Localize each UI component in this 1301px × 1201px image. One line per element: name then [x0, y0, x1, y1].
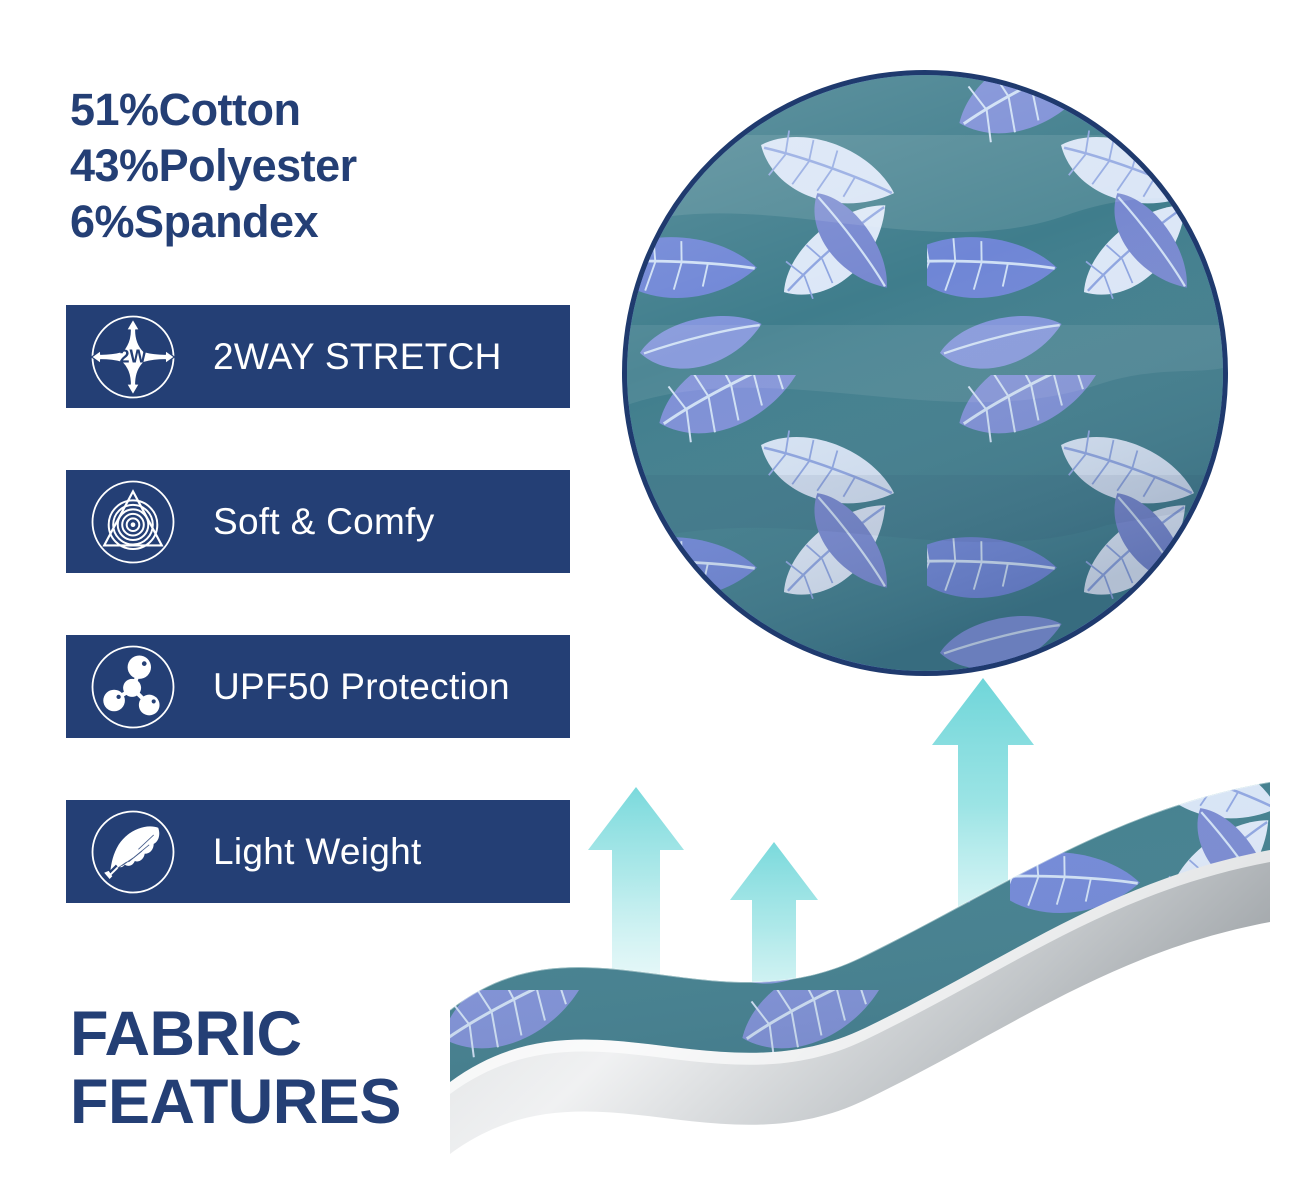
- molecule-icon: [88, 642, 178, 732]
- two-way-stretch-icon: 2W: [88, 312, 178, 402]
- page-title: FABRIC FEATURES: [70, 1000, 401, 1136]
- page-title-line-2: FEATURES: [70, 1068, 401, 1136]
- fabric-composition: 51%Cotton 43%Polyester 6%Spandex: [70, 82, 357, 249]
- two-way-stretch-icon-text: 2W: [120, 346, 147, 366]
- fabric-swatch-circle: [622, 70, 1228, 676]
- fabric-layer-sheet: [410, 690, 1300, 1190]
- feature-label-2way-stretch: 2WAY STRETCH: [213, 336, 502, 378]
- composition-line-1: 51%Cotton: [70, 82, 357, 138]
- page-title-line-1: FABRIC: [70, 1000, 401, 1068]
- feature-bar-soft-comfy[interactable]: Soft & Comfy: [66, 470, 570, 573]
- composition-line-3: 6%Spandex: [70, 194, 357, 250]
- feature-label-light-weight: Light Weight: [213, 831, 422, 873]
- feature-bar-2way-stretch[interactable]: 2W 2WAY STRETCH: [66, 305, 570, 408]
- composition-line-2: 43%Polyester: [70, 138, 357, 194]
- soft-comfy-ripple-icon: [88, 477, 178, 567]
- feature-label-soft-comfy: Soft & Comfy: [213, 501, 435, 543]
- feather-icon: [88, 807, 178, 897]
